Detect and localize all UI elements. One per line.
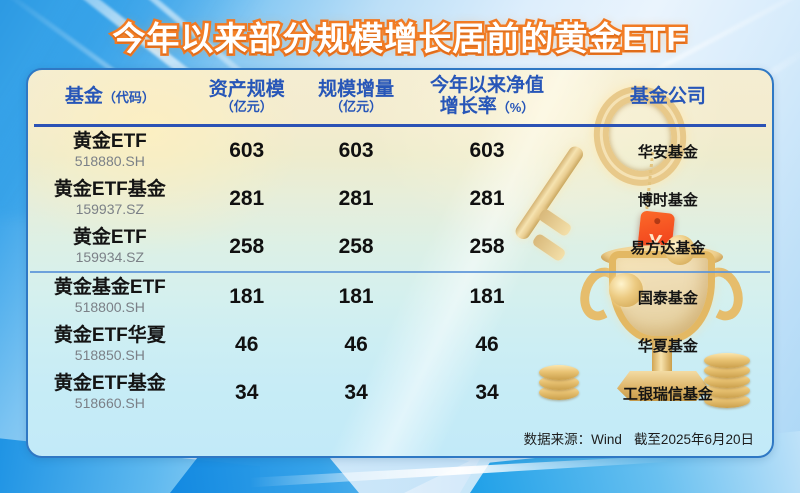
fund-company-name: 工银瑞信基金: [564, 383, 772, 404]
section-divider: [28, 271, 772, 273]
fund-code: 159937.SZ: [28, 201, 192, 217]
fund-company-name: 华夏基金: [564, 335, 772, 356]
cell-asset-scale: 34: [192, 369, 302, 417]
cell-fund-company: 国泰基金: [564, 273, 772, 321]
table-row: 黄金基金ETF 518800.SH 181 181 181 国泰基金: [28, 273, 772, 321]
fund-name: 黄金ETF: [28, 228, 192, 248]
cell-fund: 黄金ETF基金 159937.SZ: [28, 175, 192, 223]
cell-asset-scale: 258: [192, 223, 302, 271]
column-header-scale-growth-label: 规模增量: [302, 80, 411, 101]
cell-scale-growth: 34: [302, 369, 411, 417]
fund-name: 黄金ETF基金: [28, 180, 192, 200]
cell-nav-growth-rate: 181: [410, 273, 563, 321]
fund-name: 黄金ETF华夏: [28, 326, 192, 346]
column-header-asset-scale-label: 资产规模: [192, 80, 302, 101]
cell-nav-growth-rate: 281: [410, 175, 563, 223]
column-header-fund-unit: （代码）: [103, 90, 155, 105]
cell-scale-growth: 181: [302, 273, 411, 321]
cell-asset-scale: 181: [192, 273, 302, 321]
table-row: 黄金ETF基金 159937.SZ 281 281 281 博时基金: [28, 175, 772, 223]
table-row: 黄金ETF 518880.SH 603 603 603 华安基金: [28, 127, 772, 175]
gold-etf-table: 基金（代码） 资产规模 （亿元） 规模增量 （亿元） 今年以来净值 增长率（%）: [28, 70, 772, 417]
cell-scale-growth: 281: [302, 175, 411, 223]
cell-fund-company: 易方达基金: [564, 223, 772, 271]
fund-name: 黄金基金ETF: [28, 278, 192, 298]
cell-asset-scale: 46: [192, 321, 302, 369]
cell-fund-company: 博时基金: [564, 175, 772, 223]
fund-code: 518880.SH: [28, 153, 192, 169]
cell-fund: 黄金ETF基金 518660.SH: [28, 369, 192, 417]
cell-fund-company: 工银瑞信基金: [564, 369, 772, 417]
table-body: 黄金ETF 518880.SH 603 603 603 华安基金 黄金ETF基金…: [28, 124, 772, 417]
cell-fund: 黄金基金ETF 518800.SH: [28, 273, 192, 321]
data-card: ¥: [26, 68, 774, 458]
fund-company-name: 易方达基金: [564, 237, 772, 258]
column-header-asset-scale-unit: （亿元）: [192, 100, 302, 114]
table-header: 基金（代码） 资产规模 （亿元） 规模增量 （亿元） 今年以来净值 增长率（%）: [28, 70, 772, 124]
fund-company-name: 国泰基金: [564, 287, 772, 308]
column-header-fund: 基金（代码）: [28, 70, 192, 124]
cell-nav-growth-rate: 603: [410, 127, 563, 175]
cell-scale-growth: 258: [302, 223, 411, 271]
cell-fund: 黄金ETF华夏 518850.SH: [28, 321, 192, 369]
infographic-stage: 今年以来部分规模增长居前的黄金ETF ¥: [0, 0, 800, 493]
column-header-asset-scale: 资产规模 （亿元）: [192, 70, 302, 124]
cell-asset-scale: 281: [192, 175, 302, 223]
column-header-fund-company-label: 基金公司: [630, 86, 706, 107]
cell-fund: 黄金ETF 159934.SZ: [28, 223, 192, 271]
column-header-nav-growth-rate-line2: 增长率（%）: [410, 97, 563, 118]
table-row: 黄金ETF华夏 518850.SH 46 46 46 华夏基金: [28, 321, 772, 369]
cell-nav-growth-rate: 46: [410, 321, 563, 369]
background-shard: [250, 453, 670, 493]
cell-fund-company: 华安基金: [564, 127, 772, 175]
fund-company-name: 华安基金: [564, 141, 772, 162]
section-rule-line: [30, 271, 770, 273]
table-row: 黄金ETF基金 518660.SH 34 34 34 工银瑞信基金: [28, 369, 772, 417]
column-header-nav-growth-rate: 今年以来净值 增长率（%）: [410, 70, 563, 124]
fund-name: 黄金ETF基金: [28, 374, 192, 394]
column-header-scale-growth-unit: （亿元）: [302, 100, 411, 114]
cell-asset-scale: 603: [192, 127, 302, 175]
fund-code: 518850.SH: [28, 347, 192, 363]
column-header-scale-growth: 规模增量 （亿元）: [302, 70, 411, 124]
asof-date: 截至2025年6月20日: [634, 432, 754, 447]
fund-company-name: 博时基金: [564, 189, 772, 210]
cell-fund-company: 华夏基金: [564, 321, 772, 369]
source-note: 数据来源：Wind截至2025年6月20日: [524, 428, 754, 448]
fund-code: 518660.SH: [28, 395, 192, 411]
table-row: 黄金ETF 159934.SZ 258 258 258 易方达基金: [28, 223, 772, 271]
cell-nav-growth-rate: 34: [410, 369, 563, 417]
cell-scale-growth: 603: [302, 127, 411, 175]
page-title: 今年以来部分规模增长居前的黄金ETF: [0, 12, 800, 60]
column-header-fund-label: 基金: [65, 86, 103, 107]
fund-name: 黄金ETF: [28, 132, 192, 152]
column-header-fund-company: 基金公司: [564, 70, 772, 124]
cell-nav-growth-rate: 258: [410, 223, 563, 271]
cell-fund: 黄金ETF 518880.SH: [28, 127, 192, 175]
source-label: 数据来源：Wind: [524, 432, 622, 447]
column-header-nav-growth-rate-line1: 今年以来净值: [410, 76, 563, 97]
fund-code: 518800.SH: [28, 299, 192, 315]
cell-scale-growth: 46: [302, 321, 411, 369]
fund-code: 159934.SZ: [28, 249, 192, 265]
